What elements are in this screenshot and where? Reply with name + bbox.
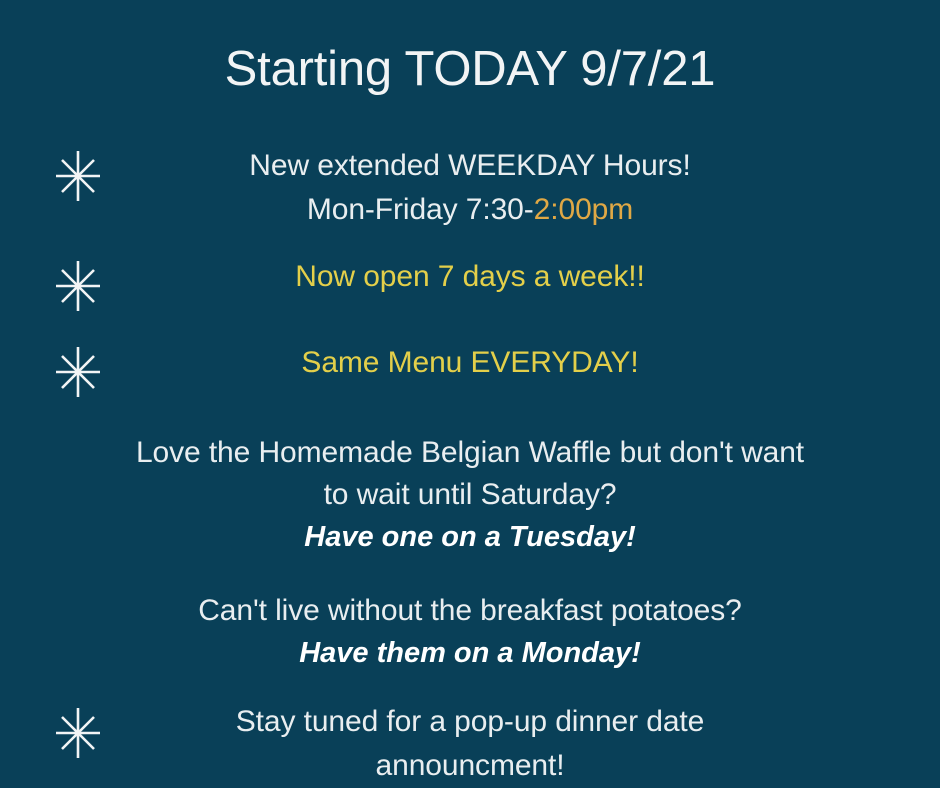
weekday-hours-line1: New extended WEEKDAY Hours! xyxy=(120,144,820,188)
weekday-hours-close-time: 2:00pm xyxy=(534,193,633,226)
eight-point-asterisk-icon xyxy=(50,344,106,400)
potatoes-line1: Can't live without the breakfast potatoe… xyxy=(0,590,940,632)
waffle-emphasis: Have one on a Tuesday! xyxy=(0,516,940,558)
potatoes-paragraph: Can't live without the breakfast potatoe… xyxy=(0,590,940,674)
waffle-line1: Love the Homemade Belgian Waffle but don… xyxy=(0,432,940,474)
same-menu-text: Same Menu EVERYDAY! xyxy=(120,341,820,385)
weekday-hours-text: New extended WEEKDAY Hours! Mon-Friday 7… xyxy=(120,144,820,232)
weekday-hours-prefix: Mon-Friday 7:30- xyxy=(307,193,534,226)
eight-point-asterisk-icon xyxy=(50,148,106,204)
waffle-paragraph: Love the Homemade Belgian Waffle but don… xyxy=(0,432,940,558)
eight-point-asterisk-icon xyxy=(50,705,106,761)
eight-point-asterisk-icon xyxy=(50,258,106,314)
seven-days-text: Now open 7 days a week!! xyxy=(120,255,820,299)
popup-dinner-line2: announcment! xyxy=(120,744,820,788)
popup-dinner-line1: Stay tuned for a pop-up dinner date xyxy=(120,700,820,744)
potatoes-emphasis: Have them on a Monday! xyxy=(0,632,940,674)
popup-dinner-text: Stay tuned for a pop-up dinner date anno… xyxy=(120,700,820,788)
page-title: Starting TODAY 9/7/21 xyxy=(0,44,940,96)
waffle-line2: to wait until Saturday? xyxy=(0,474,940,516)
announcement-poster: Starting TODAY 9/7/21 New extended WEEKD… xyxy=(0,0,940,788)
weekday-hours-line2: Mon-Friday 7:30-2:00pm xyxy=(120,188,820,232)
